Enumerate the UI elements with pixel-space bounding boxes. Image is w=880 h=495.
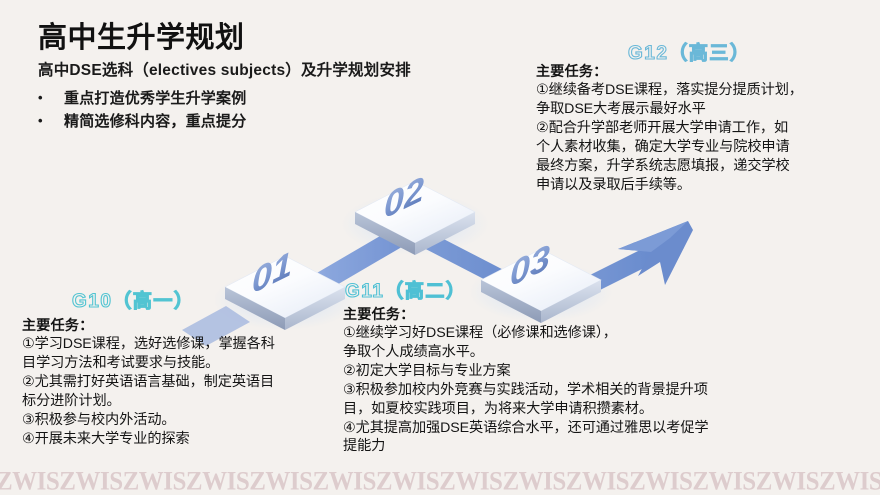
bullet-item-2: • 精简选修科内容，重点提分 bbox=[38, 110, 558, 133]
plate-glow bbox=[341, 193, 489, 255]
stage-label-g11: G11（高二） bbox=[345, 276, 466, 303]
task-heading-g11: 主要任务： bbox=[343, 305, 709, 323]
bullet-text-2: 精简选修科内容，重点提分 bbox=[64, 110, 246, 133]
stage-label-g12: G12（高三） bbox=[628, 38, 750, 65]
step-number-01: 01 bbox=[252, 243, 292, 301]
task-line: 目学习方法和考试要求与技能。 bbox=[22, 354, 275, 373]
task-line: ②初定大学目标与专业方案 bbox=[343, 362, 709, 381]
task-line: ①继续备考DSE课程，落实提分提质计划， bbox=[536, 81, 803, 100]
task-block-g12: 主要任务： ①继续备考DSE课程，落实提分提质计划， 争取DSE大考展示最好水平… bbox=[536, 62, 803, 194]
task-line: 争取个人成绩高水平。 bbox=[343, 343, 709, 362]
step-number-02: 02 bbox=[384, 168, 424, 226]
bullet-text-1: 重点打造优秀学生升学案例 bbox=[64, 87, 246, 110]
step-plate-02: 02 bbox=[355, 168, 475, 255]
task-line: 申请以及录取后手续等。 bbox=[536, 176, 803, 195]
bullet-item-1: • 重点打造优秀学生升学案例 bbox=[38, 87, 558, 110]
task-heading-g12: 主要任务： bbox=[536, 62, 803, 80]
task-line: ②尤其需打好英语语言基础，制定英语目 bbox=[22, 373, 275, 392]
task-line: 提能力 bbox=[343, 437, 709, 456]
watermark-strip: ZWISZWISZWISZWISZWISZWISZWISZWISZWISZWIS… bbox=[0, 468, 880, 495]
arrow-head-icon bbox=[618, 221, 693, 285]
task-line: ②配合升学部老师开展大学申请工作，如 bbox=[536, 119, 803, 138]
slide-canvas: 高中生升学规划 高中DSE选科（electives subjects）及升学规划… bbox=[0, 0, 880, 495]
page-title: 高中生升学规划 bbox=[38, 22, 558, 55]
task-line: ①学习DSE课程，选好选修课，掌握各科 bbox=[22, 335, 275, 354]
task-line: 争取DSE大考展示最好水平 bbox=[536, 100, 803, 119]
task-line: ④开展未来大学专业的探索 bbox=[22, 430, 275, 449]
bullet-marker-icon: • bbox=[38, 110, 64, 131]
bullet-marker-icon: • bbox=[38, 87, 64, 108]
task-line: 标分进阶计划。 bbox=[22, 392, 275, 411]
task-line: ③积极参与校内外活动。 bbox=[22, 411, 275, 430]
task-heading-g10: 主要任务： bbox=[22, 316, 275, 334]
slide-header: 高中生升学规划 高中DSE选科（electives subjects）及升学规划… bbox=[38, 22, 558, 133]
task-line: 目，如夏校实践项目，为将来大学申请积攒素材。 bbox=[343, 400, 709, 419]
task-block-g11: 主要任务： ①继续学习好DSE课程（必修课和选修课）， 争取个人成绩高水平。 ②… bbox=[343, 305, 709, 456]
task-block-g10: 主要任务： ①学习DSE课程，选好选修课，掌握各科 目学习方法和考试要求与技能。… bbox=[22, 316, 275, 448]
task-line: ①继续学习好DSE课程（必修课和选修课）， bbox=[343, 324, 709, 343]
task-line: ③积极参加校内外竞赛与实践活动，学术相关的背景提升项 bbox=[343, 381, 709, 400]
stage-label-g10: G10（高一） bbox=[72, 286, 194, 313]
slide-subtitle: 高中DSE选科（electives subjects）及升学规划安排 bbox=[38, 62, 558, 81]
task-line: 个人素材收集，确定大学专业与院校申请 bbox=[536, 138, 803, 157]
step-number-03: 03 bbox=[510, 236, 550, 294]
ribbon-segment-3 bbox=[556, 234, 684, 306]
task-line: ④尤其提高加强DSE英语综合水平，还可通过雅思以考促学 bbox=[343, 419, 709, 438]
watermark-text: ZWISZWISZWISZWISZWISZWISZWISZWISZWISZWIS… bbox=[0, 468, 880, 495]
task-line: 最终方案，升学系统志愿填报，递交学校 bbox=[536, 157, 803, 176]
